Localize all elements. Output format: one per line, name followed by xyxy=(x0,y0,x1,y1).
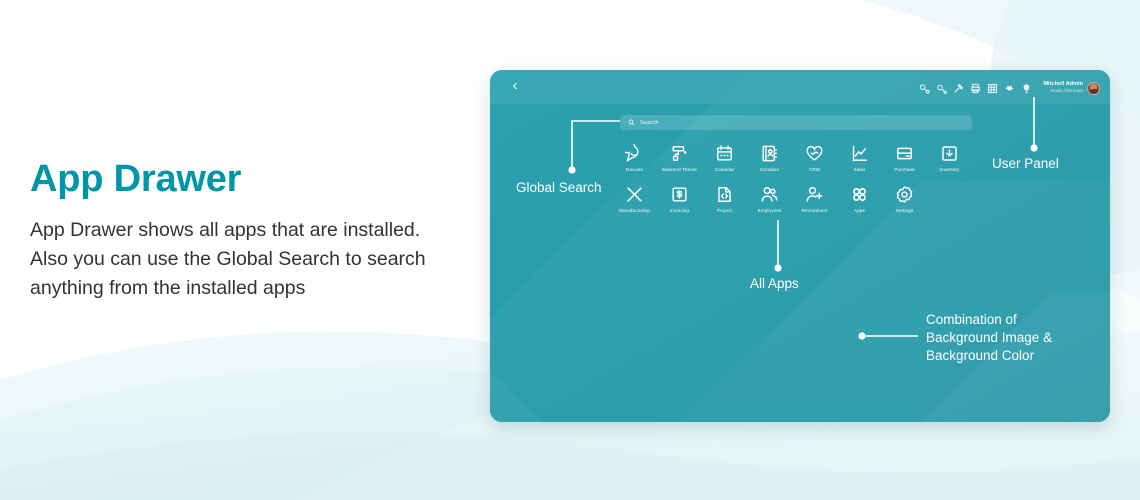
app-label: Calendar xyxy=(715,167,735,172)
contacts-icon xyxy=(760,144,779,163)
app-apps[interactable]: Apps xyxy=(837,181,882,213)
recruitment-icon xyxy=(805,185,824,204)
app-label: Settings xyxy=(896,208,914,213)
app-project[interactable]: Project xyxy=(702,181,747,213)
app-inventory[interactable]: Inventory xyxy=(927,140,972,172)
annotation-all-apps: All Apps xyxy=(750,275,799,293)
app-label: Manufacturing xyxy=(619,208,650,213)
app-purchase[interactable]: Purchase xyxy=(882,140,927,172)
manufacturing-icon xyxy=(625,185,644,204)
app-label: Sales xyxy=(853,167,865,172)
annotation-global-search: Global Search xyxy=(516,179,602,197)
app-employees[interactable]: Employees xyxy=(747,181,792,213)
app-label: Project xyxy=(717,208,732,213)
page-description: App Drawer shows all apps that are insta… xyxy=(30,216,430,303)
app-label: Backend Theme xyxy=(662,167,697,172)
chevron-left-icon[interactable]: ‹ xyxy=(507,77,523,95)
app-label: Employees xyxy=(758,208,782,213)
sales-icon xyxy=(850,144,869,163)
annotation-background-line2: Background Image & xyxy=(926,329,1052,347)
app-recruitment[interactable]: Recruitment xyxy=(792,181,837,213)
user-greeting: Good Afternoon xyxy=(1051,89,1083,93)
calendar-icon xyxy=(715,144,734,163)
app-discuss[interactable]: Discuss xyxy=(612,140,657,172)
page-root: App Drawer App Drawer shows all apps tha… xyxy=(0,0,1140,500)
employees-icon xyxy=(760,185,779,204)
grid-icon[interactable] xyxy=(987,83,998,94)
debug-icon[interactable] xyxy=(953,83,964,94)
app-crm[interactable]: CRM xyxy=(792,140,837,172)
app-label: Invoicing xyxy=(670,208,689,213)
backend-theme-icon xyxy=(670,144,689,163)
annotation-background-line1: Combination of xyxy=(926,311,1052,329)
app-drawer-panel: ‹ xyxy=(490,70,1110,422)
project-icon xyxy=(715,185,734,204)
user-names: Mitchell Admin Good Afternoon xyxy=(1043,82,1083,93)
discuss-icon xyxy=(625,144,644,163)
bug-icon[interactable] xyxy=(1004,83,1015,94)
activities-icon[interactable] xyxy=(919,83,930,94)
app-label: Apps xyxy=(854,208,865,213)
search-icon xyxy=(628,119,635,126)
app-settings[interactable]: Settings xyxy=(882,181,927,213)
app-grid: Discuss Backend Theme xyxy=(612,140,992,213)
app-contacts[interactable]: Contacts xyxy=(747,140,792,172)
messages-icon[interactable] xyxy=(936,83,947,94)
page-title: App Drawer xyxy=(30,160,430,200)
search-input[interactable]: Search xyxy=(620,115,972,130)
print-icon[interactable] xyxy=(970,83,981,94)
app-label: Purchase xyxy=(894,167,914,172)
intro-copy: App Drawer App Drawer shows all apps tha… xyxy=(30,160,430,302)
app-label: CRM xyxy=(809,167,820,172)
annotation-background: Combination of Background Image & Backgr… xyxy=(926,311,1052,365)
app-label: Inventory xyxy=(940,167,960,172)
app-calendar[interactable]: Calendar xyxy=(702,140,747,172)
user-panel[interactable]: Mitchell Admin Good Afternoon xyxy=(1043,82,1100,95)
annotation-background-line3: Background Color xyxy=(926,347,1052,365)
drawer-topbar: Mitchell Admin Good Afternoon xyxy=(919,78,1100,98)
app-backend-theme[interactable]: Backend Theme xyxy=(657,140,702,172)
crm-icon xyxy=(805,144,824,163)
app-label: Discuss xyxy=(626,167,643,172)
inventory-icon xyxy=(940,144,959,163)
purchase-icon xyxy=(895,144,914,163)
annotation-user-panel: User Panel xyxy=(992,155,1059,173)
settings-icon xyxy=(895,185,914,204)
app-manufacturing[interactable]: Manufacturing xyxy=(612,181,657,213)
app-row-2: Manufacturing Invoicing Project xyxy=(612,181,992,213)
app-label: Recruitment xyxy=(801,208,827,213)
app-sales[interactable]: Sales xyxy=(837,140,882,172)
avatar[interactable] xyxy=(1087,82,1100,95)
apps-icon xyxy=(850,185,869,204)
invoicing-icon xyxy=(670,185,689,204)
user-name: Mitchell Admin xyxy=(1043,82,1083,87)
app-label: Contacts xyxy=(760,167,779,172)
app-invoicing[interactable]: Invoicing xyxy=(657,181,702,213)
search-placeholder: Search xyxy=(640,120,659,126)
app-row-1: Discuss Backend Theme xyxy=(612,140,992,172)
lightbulb-icon[interactable] xyxy=(1021,83,1032,94)
